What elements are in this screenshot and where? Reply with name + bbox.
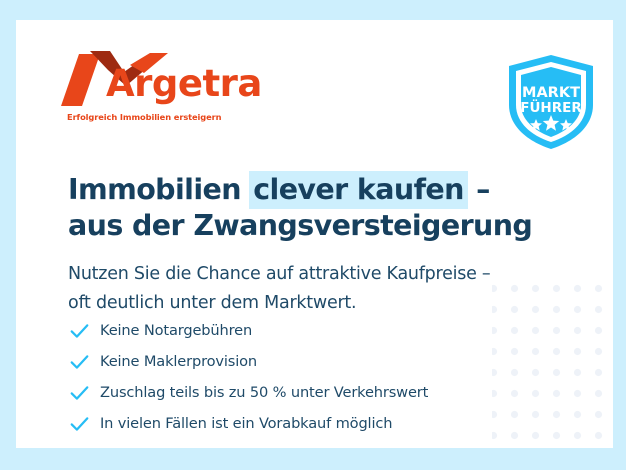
list-item: Keine Notargebühren <box>70 315 540 346</box>
market-leader-badge: MARKT FÜHRER <box>505 53 597 151</box>
headline-line-1: Immobilien clever kaufen – <box>68 172 568 208</box>
logo-tagline: Erfolgreich Immobilien ersteigern <box>67 112 221 122</box>
benefit-label: Keine Notargebühren <box>100 322 252 339</box>
headline: Immobilien clever kaufen – aus der Zwang… <box>68 172 568 244</box>
benefit-label: Zuschlag teils bis zu 50 % unter Verkehr… <box>100 384 428 401</box>
list-item: Keine Maklerprovision <box>70 346 540 377</box>
check-icon <box>70 416 100 432</box>
subheadline-line-1: Nutzen Sie die Chance auf attraktive Kau… <box>68 260 568 289</box>
check-icon <box>70 354 100 370</box>
subheadline: Nutzen Sie die Chance auf attraktive Kau… <box>68 260 568 318</box>
argetra-logo[interactable]: Argetra Erfolgreich Immobilien ersteiger… <box>58 48 258 138</box>
list-item: Zuschlag teils bis zu 50 % unter Verkehr… <box>70 377 540 408</box>
promo-card: Argetra Erfolgreich Immobilien ersteiger… <box>16 20 613 448</box>
list-item: In vielen Fällen ist ein Vorabkauf mögli… <box>70 408 540 439</box>
headline-text-before: Immobilien <box>68 173 250 206</box>
check-icon <box>70 385 100 401</box>
badge-line2: FÜHRER <box>520 98 582 116</box>
headline-line-2: aus der Zwangsversteigerung <box>68 208 568 244</box>
promo-banner: Argetra Erfolgreich Immobilien ersteiger… <box>0 0 626 470</box>
headline-text-after: – <box>467 173 490 206</box>
benefit-label: Keine Maklerprovision <box>100 353 257 370</box>
benefits-list: Keine Notargebühren Keine Maklerprovisio… <box>70 315 540 439</box>
headline-highlight: clever kaufen <box>249 171 468 209</box>
check-icon <box>70 323 100 339</box>
badge-line1: MARKT <box>522 85 580 101</box>
logo-wordmark: Argetra <box>106 65 262 102</box>
benefit-label: In vielen Fällen ist ein Vorabkauf mögli… <box>100 415 392 432</box>
subheadline-line-2: oft deutlich unter dem Marktwert. <box>68 289 568 318</box>
